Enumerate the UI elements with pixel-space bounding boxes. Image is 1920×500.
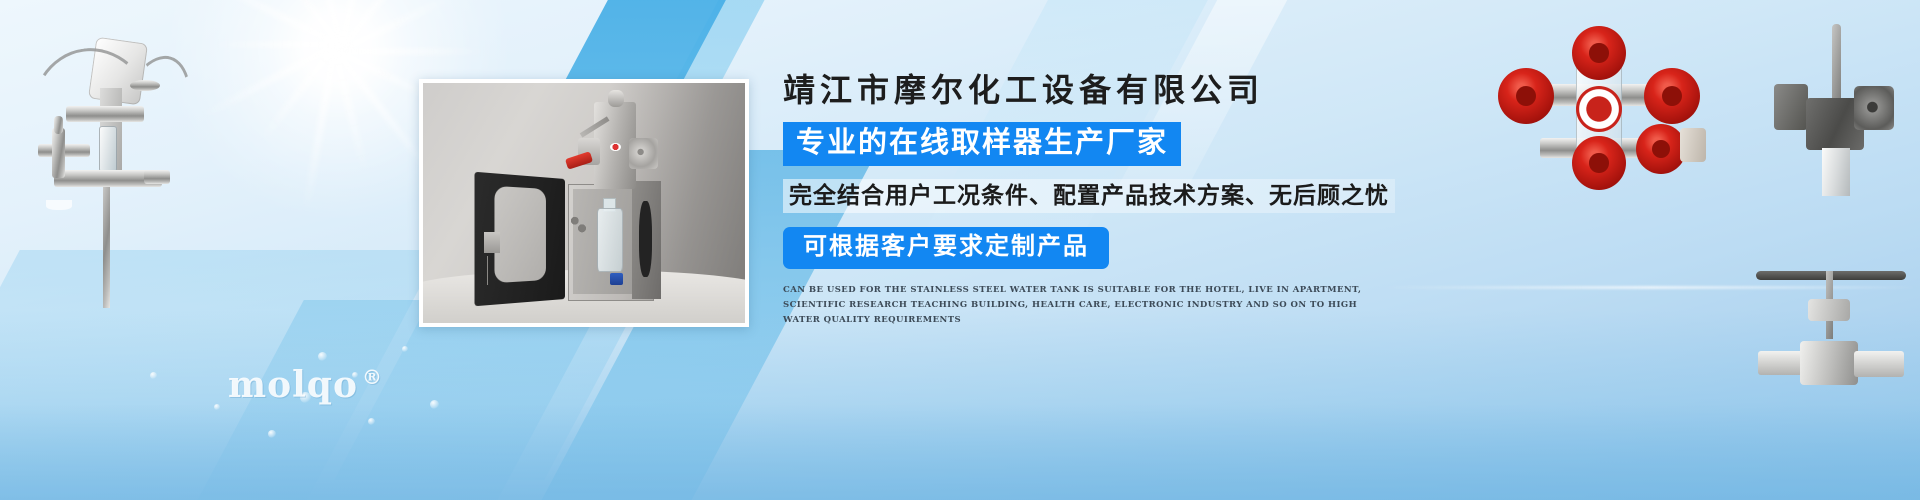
valve-flange-right: [1854, 351, 1904, 377]
water-droplet-icon: [430, 400, 439, 409]
water-droplet-icon: [368, 418, 375, 425]
left-equipment-illustration: [8, 18, 188, 308]
brand-seal-icon: [610, 143, 621, 151]
valve-flange-right: [629, 138, 658, 169]
banner-copy: 靖江市摩尔化工设备有限公司 专业的在线取样器生产厂家 完全结合用户工况条件、配置…: [783, 72, 1423, 328]
cabinet-handle: [639, 201, 652, 278]
red-handwheel-icon: [1498, 68, 1554, 124]
blue-bottle-cap: [610, 273, 623, 285]
sample-bottle: [597, 208, 623, 272]
company-name: 靖江市摩尔化工设备有限公司: [783, 72, 1423, 109]
valve-top-knob: [608, 90, 624, 107]
valve-bonnet: [1808, 299, 1850, 321]
right-equipment-handwheel-valve: [1752, 255, 1912, 405]
valve-flange-left: [1774, 84, 1808, 130]
water-droplet-icon: [402, 346, 408, 352]
water-gradient-lower: [0, 404, 1920, 500]
valve-body: [1800, 341, 1858, 385]
water-droplet-icon: [318, 352, 327, 361]
red-handwheel-icon: [1572, 136, 1626, 190]
door-lock: [484, 232, 500, 254]
registered-mark-icon: ®: [362, 365, 383, 389]
lever-handle: [1832, 24, 1841, 102]
brand-seal-icon: [1576, 86, 1622, 132]
flange: [144, 170, 170, 184]
sample-bottle: [46, 200, 72, 210]
product-photo: [419, 79, 749, 327]
product-photo-image: [423, 83, 745, 323]
valve-flange-left: [1758, 351, 1804, 375]
cabinet-door-window: [494, 185, 545, 282]
flange: [130, 80, 160, 91]
right-equipment-lever-valve: [1768, 22, 1908, 197]
red-handwheel-icon: [1572, 26, 1626, 80]
red-handwheel-icon: [1636, 124, 1686, 174]
door-key: [487, 256, 488, 285]
brand-watermark: molqo®: [228, 364, 383, 406]
custom-product-pill: 可根据客户要求定制产品: [783, 227, 1109, 269]
outlet-pipe: [1822, 148, 1850, 196]
red-handwheel-icon: [1644, 68, 1700, 124]
valve-flange-right: [1854, 86, 1894, 130]
headline-badge: 专业的在线取样器生产厂家: [783, 122, 1181, 166]
water-droplet-icon: [150, 372, 157, 379]
red-valve-handle: [565, 151, 593, 169]
actuator-housing: [1680, 128, 1706, 162]
water-droplet-icon: [268, 430, 276, 438]
subheadline: 完全结合用户工况条件、配置产品技术方案、无后顾之忧: [783, 179, 1395, 213]
watermark-text: molqo: [228, 364, 358, 406]
cabinet-mount-holes: [570, 215, 586, 234]
water-droplet-icon: [214, 404, 220, 410]
english-description: CAN BE USED FOR THE STAINLESS STEEL WATE…: [783, 283, 1383, 328]
right-equipment-valve-manifold: [1498, 32, 1708, 162]
promotional-banner: 靖江市摩尔化工设备有限公司 专业的在线取样器生产厂家 完全结合用户工况条件、配置…: [0, 0, 1920, 500]
